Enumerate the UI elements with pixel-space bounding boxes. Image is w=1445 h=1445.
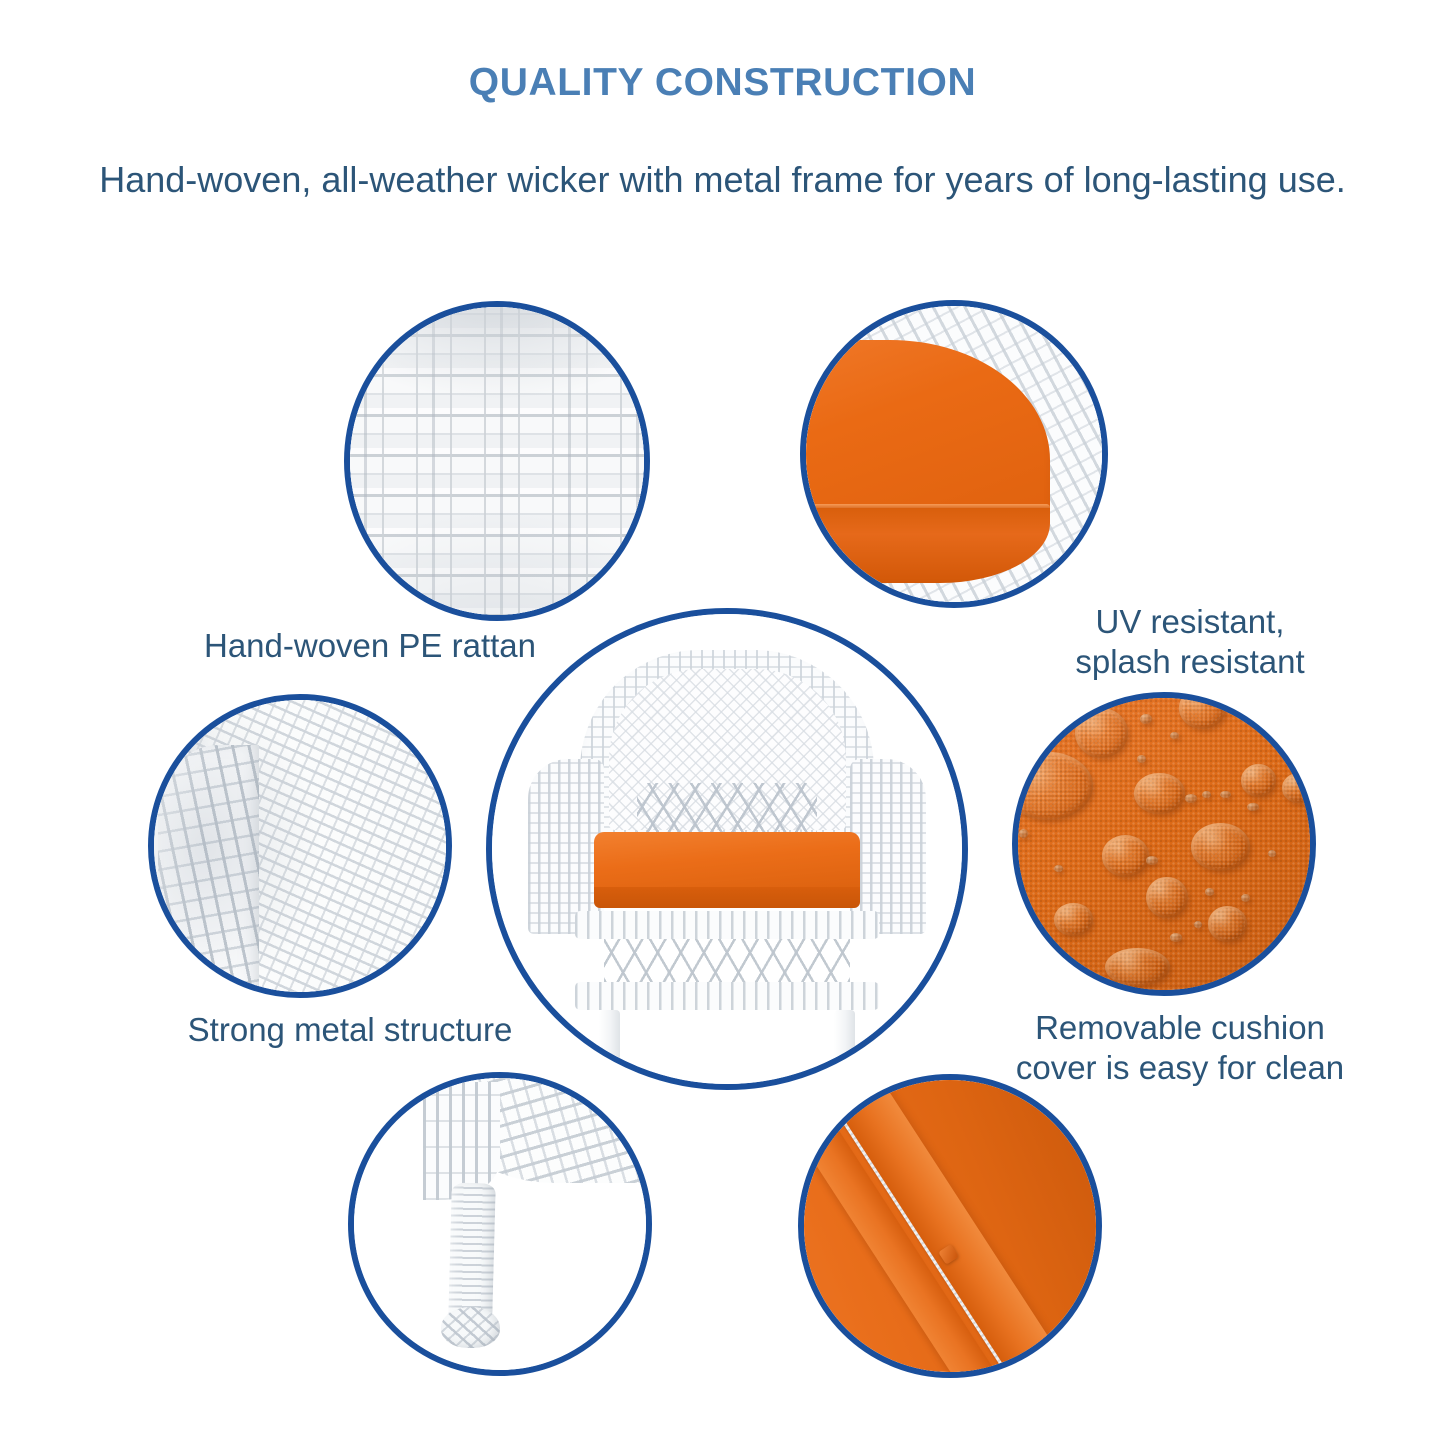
wicker-armrest-image bbox=[152, 698, 448, 994]
feature-bubble-uv-splash-resistant bbox=[800, 300, 1108, 608]
feature-bubble-hand-woven-pe-rattan bbox=[344, 301, 650, 621]
infographic-page: QUALITY CONSTRUCTION Hand-woven, all-wea… bbox=[0, 0, 1445, 1445]
wicker-chair-leg-image bbox=[352, 1076, 648, 1372]
center-bubble-full-product bbox=[486, 608, 968, 1090]
page-subtitle: Hand-woven, all-weather wicker with meta… bbox=[0, 158, 1445, 201]
pe-rattan-weave-image bbox=[348, 305, 646, 617]
feature-bubble-removable-cushion-cover bbox=[1012, 692, 1316, 996]
feature-bubble-strong-metal-structure bbox=[148, 694, 452, 998]
feature-bubble-chair-leg-detail bbox=[348, 1072, 652, 1376]
water-droplets-fabric-image bbox=[1016, 696, 1312, 992]
caption-removable-cushion-cover: Removable cushion cover is easy for clea… bbox=[960, 1008, 1400, 1089]
caption-uv-splash-resistant: UV resistant, splash resistant bbox=[1000, 602, 1380, 683]
wicker-armchair-image bbox=[490, 612, 964, 1086]
feature-bubble-zipper-detail bbox=[798, 1074, 1102, 1378]
cushion-zipper-image bbox=[802, 1078, 1098, 1374]
page-title: QUALITY CONSTRUCTION bbox=[0, 62, 1445, 105]
orange-cushion-closeup-image bbox=[804, 304, 1104, 604]
